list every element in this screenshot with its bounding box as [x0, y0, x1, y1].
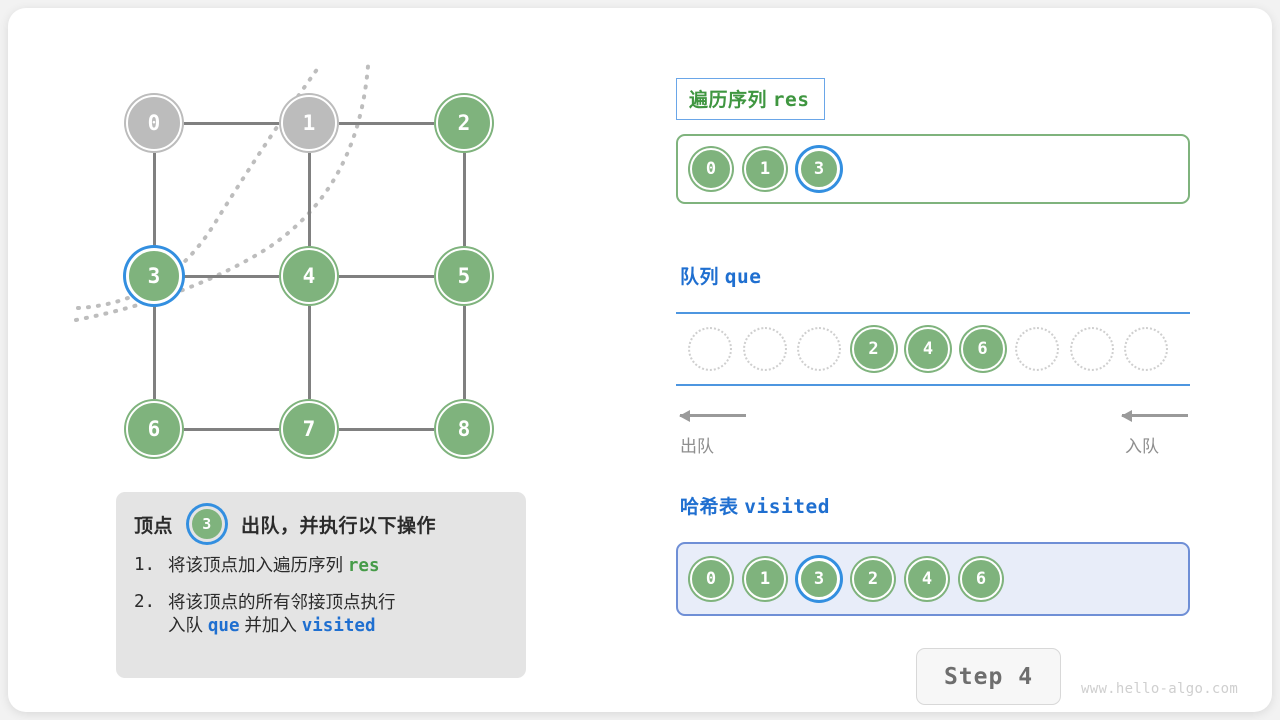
graph-node-0[interactable]: 0 — [126, 95, 182, 151]
graph-node-2[interactable]: 2 — [436, 95, 492, 151]
queue-container: 246 — [676, 312, 1190, 386]
caption-step-2-line2-mid: 并加入 — [244, 615, 297, 635]
visited-section-title: 哈希表 visited — [680, 492, 830, 519]
graph-edge — [339, 275, 434, 278]
res-container: 013 — [676, 134, 1190, 204]
graph-edge — [153, 306, 156, 399]
queue-rail-bottom — [676, 384, 1190, 386]
caption-head-suffix: 出队，并执行以下操作 — [241, 511, 436, 538]
enqueue-arrow-icon — [1122, 414, 1188, 417]
queue-title-code: que — [725, 265, 762, 288]
graph-node-7[interactable]: 7 — [281, 401, 337, 457]
graph-edge — [339, 428, 434, 431]
visited-container: 013246 — [676, 542, 1190, 616]
graph-edge — [463, 306, 466, 399]
queue-slot-1[interactable] — [743, 327, 787, 371]
caption-step-2-line2-prefix: 入队 — [168, 615, 203, 635]
caption-box: 顶点 3 出队，并执行以下操作 1. 将该顶点加入遍历序列 res 2. 将该顶… — [116, 492, 526, 678]
caption-step-1: 1. 将该顶点加入遍历序列 res — [134, 554, 510, 579]
queue-section-title: 队列 que — [680, 262, 762, 289]
caption-head-prefix: 顶点 — [134, 511, 173, 538]
res-item-2[interactable]: 3 — [798, 148, 840, 190]
graph-node-6[interactable]: 6 — [126, 401, 182, 457]
graph-visualization: 012345678 — [68, 48, 538, 488]
visited-title-code: visited — [744, 495, 830, 518]
content-card: 012345678 顶点 3 出队，并执行以下操作 1. 将该顶点加入遍历序列 … — [8, 8, 1272, 712]
caption-step-1-code: res — [348, 556, 380, 576]
visited-item-0[interactable]: 0 — [690, 558, 732, 600]
caption-step-1-text: 将该顶点加入遍历序列 — [168, 555, 343, 575]
graph-edge — [184, 428, 279, 431]
res-item-1[interactable]: 1 — [744, 148, 786, 190]
queue-rail-top — [676, 312, 1190, 314]
queue-title-cn: 队列 — [680, 267, 719, 288]
caption-step-2-code-que: que — [208, 616, 240, 636]
queue-slot-7[interactable] — [1070, 327, 1114, 371]
graph-edge — [463, 153, 466, 246]
visited-item-1[interactable]: 1 — [744, 558, 786, 600]
enqueue-label: 入队 — [1125, 432, 1159, 457]
queue-slot-5[interactable]: 6 — [961, 327, 1005, 371]
queue-slot-2[interactable] — [797, 327, 841, 371]
graph-edge — [308, 153, 311, 246]
caption-step-2-line1: 将该顶点的所有邻接顶点执行 — [168, 592, 396, 612]
graph-edge — [184, 122, 279, 125]
visited-item-5[interactable]: 6 — [960, 558, 1002, 600]
visited-item-2[interactable]: 3 — [798, 558, 840, 600]
res-title-code: res — [773, 88, 810, 111]
caption-step-2-code-visited: visited — [302, 616, 376, 636]
caption-heading: 顶点 3 出队，并执行以下操作 — [134, 506, 510, 542]
graph-edge — [308, 306, 311, 399]
queue-slot-6[interactable] — [1015, 327, 1059, 371]
res-section-title: 遍历序列 res — [676, 78, 825, 120]
visited-item-3[interactable]: 2 — [852, 558, 894, 600]
diagram-canvas: 012345678 顶点 3 出队，并执行以下操作 1. 将该顶点加入遍历序列 … — [0, 0, 1280, 720]
graph-node-8[interactable]: 8 — [436, 401, 492, 457]
state-panel: 遍历序列 res 013 队列 que 246 出队 入队 哈希表 visite… — [668, 64, 1208, 684]
queue-slot-3[interactable]: 2 — [852, 327, 896, 371]
visited-item-4[interactable]: 4 — [906, 558, 948, 600]
graph-edge — [153, 153, 156, 246]
watermark: www.hello-algo.com — [1081, 681, 1238, 697]
graph-edge — [339, 122, 434, 125]
graph-node-3[interactable]: 3 — [126, 248, 182, 304]
dequeue-arrow-icon — [680, 414, 746, 417]
visited-title-cn: 哈希表 — [680, 497, 739, 518]
caption-step-1-number: 1. — [134, 554, 168, 579]
step-badge: Step 4 — [916, 648, 1061, 705]
res-item-0[interactable]: 0 — [690, 148, 732, 190]
dequeue-label: 出队 — [680, 432, 714, 457]
queue-slot-0[interactable] — [688, 327, 732, 371]
res-title-cn: 遍历序列 — [689, 90, 767, 111]
caption-step-2-number: 2. — [134, 591, 168, 639]
graph-node-5[interactable]: 5 — [436, 248, 492, 304]
caption-vertex-chip: 3 — [189, 506, 225, 542]
queue-slot-4[interactable]: 4 — [906, 327, 950, 371]
queue-slot-8[interactable] — [1124, 327, 1168, 371]
graph-edge — [184, 275, 279, 278]
graph-node-1[interactable]: 1 — [281, 95, 337, 151]
graph-node-4[interactable]: 4 — [281, 248, 337, 304]
caption-step-2: 2. 将该顶点的所有邻接顶点执行 入队 que 并加入 visited — [134, 591, 510, 639]
